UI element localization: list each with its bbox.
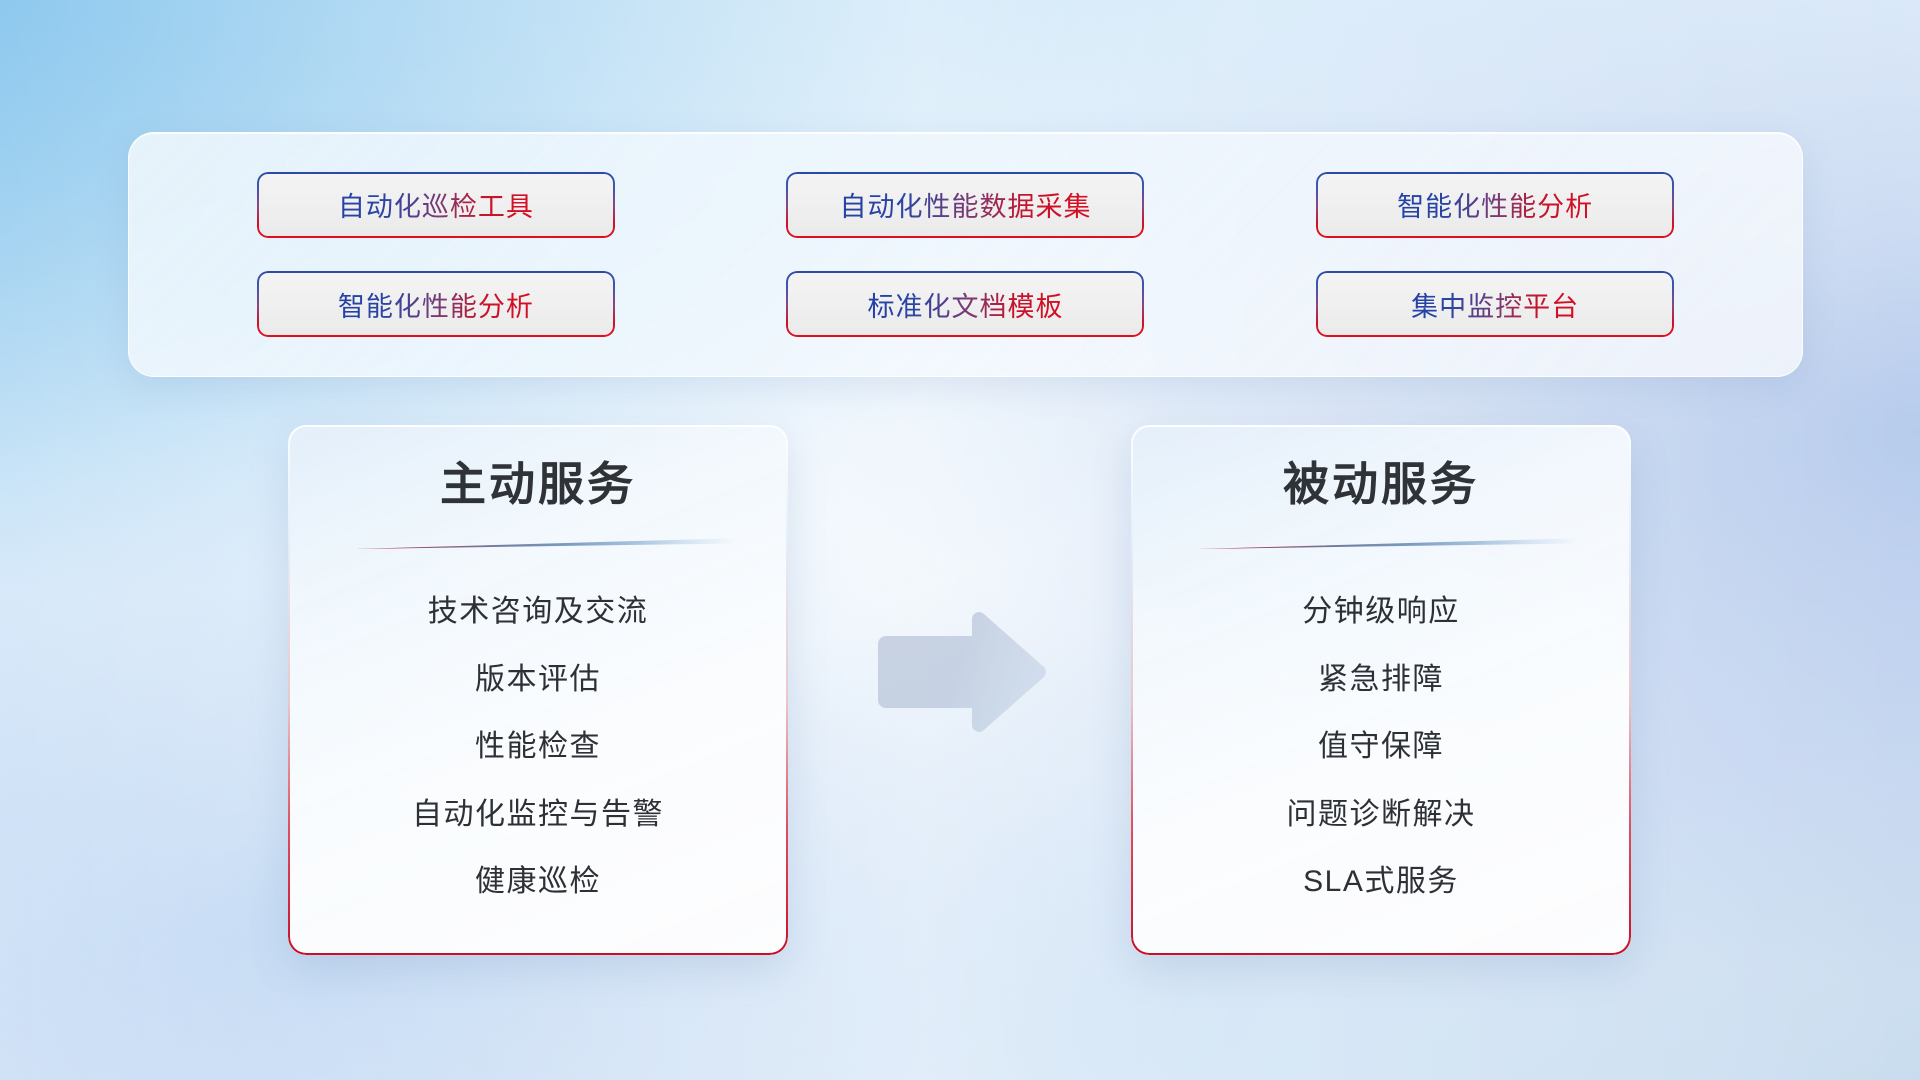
service-card-active[interactable]: 主动服务 技术咨询及交流 版本评估 性能检查 自动化监控与告警 健康巡检 bbox=[288, 425, 788, 955]
capability-tag-0[interactable]: 自动化巡检工具 bbox=[257, 172, 615, 238]
capability-tags-panel: 自动化巡检工具 自动化性能数据采集 智能化性能分析 智能化性能分析 标准化文档模… bbox=[128, 132, 1803, 377]
list-item: 自动化监控与告警 bbox=[412, 796, 664, 834]
service-card-passive[interactable]: 被动服务 分钟级响应 紧急排障 值守保障 问题诊断解决 SLA式服务 bbox=[1131, 425, 1631, 955]
capability-tag-label: 智能化性能分析 bbox=[338, 285, 534, 324]
diagram-canvas: 自动化巡检工具 自动化性能数据采集 智能化性能分析 智能化性能分析 标准化文档模… bbox=[0, 0, 1920, 1080]
title-divider bbox=[340, 538, 736, 549]
capability-tag-4[interactable]: 标准化文档模板 bbox=[786, 271, 1144, 337]
service-item-list: 分钟级响应 紧急排障 值守保障 问题诊断解决 SLA式服务 bbox=[1131, 593, 1631, 901]
capability-tag-label: 集中监控平台 bbox=[1411, 285, 1579, 324]
title-divider bbox=[1183, 538, 1579, 549]
list-item: 紧急排障 bbox=[1318, 661, 1444, 699]
capability-tag-3[interactable]: 智能化性能分析 bbox=[257, 271, 615, 337]
list-item: 技术咨询及交流 bbox=[428, 593, 649, 631]
service-item-list: 技术咨询及交流 版本评估 性能检查 自动化监控与告警 健康巡检 bbox=[288, 593, 788, 901]
card-title: 主动服务 bbox=[288, 457, 788, 512]
list-item: 值守保障 bbox=[1318, 728, 1444, 766]
right-arrow-icon bbox=[872, 612, 1050, 732]
list-item: 性能检查 bbox=[475, 728, 601, 766]
list-item: 版本评估 bbox=[475, 661, 601, 699]
card-title: 被动服务 bbox=[1131, 457, 1631, 512]
title-divider-bar bbox=[1183, 538, 1579, 549]
capability-tag-5[interactable]: 集中监控平台 bbox=[1316, 271, 1674, 337]
capability-tag-label: 自动化性能数据采集 bbox=[839, 185, 1091, 224]
capability-tag-2[interactable]: 智能化性能分析 bbox=[1316, 172, 1674, 238]
flow-connector bbox=[872, 612, 1050, 732]
list-item: SLA式服务 bbox=[1303, 863, 1459, 901]
capability-tag-label: 标准化文档模板 bbox=[867, 285, 1063, 324]
list-item: 问题诊断解决 bbox=[1287, 796, 1476, 834]
capability-tag-label: 自动化巡检工具 bbox=[338, 185, 534, 224]
title-divider-bar bbox=[340, 538, 736, 549]
capability-tag-label: 智能化性能分析 bbox=[1397, 185, 1593, 224]
list-item: 健康巡检 bbox=[475, 863, 601, 901]
capability-tag-1[interactable]: 自动化性能数据采集 bbox=[786, 172, 1144, 238]
list-item: 分钟级响应 bbox=[1302, 593, 1460, 631]
